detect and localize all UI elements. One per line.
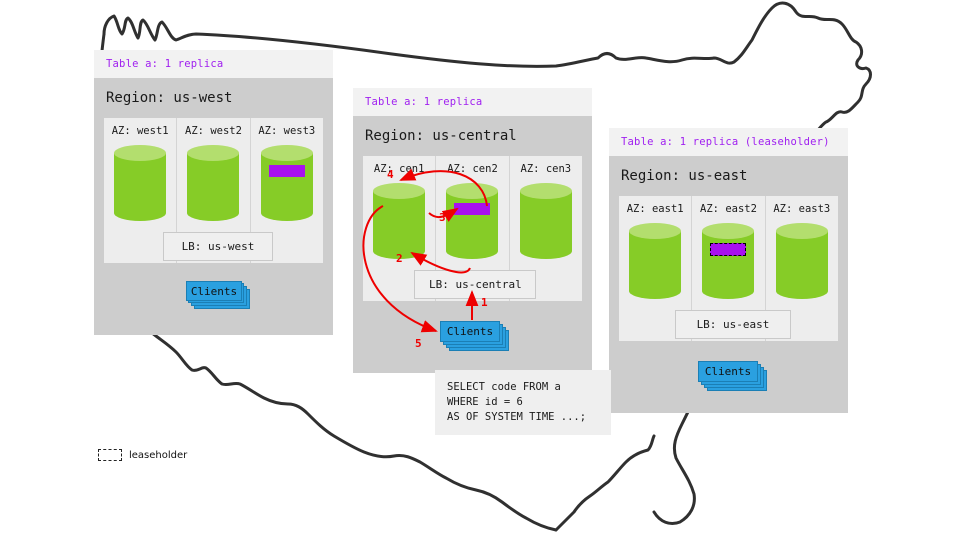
clients-us-east[interactable]: Clients [698, 361, 764, 387]
diagram-canvas: Table a: 1 replica Region: us-west AZ: w… [0, 0, 960, 540]
replica-cylinder-east3[interactable] [776, 223, 828, 299]
replica-block-west3[interactable] [269, 165, 305, 177]
clients-us-central[interactable]: Clients [440, 321, 506, 347]
replica-cylinder-cen2[interactable] [446, 183, 498, 259]
clients-us-west[interactable]: Clients [186, 281, 248, 307]
az-label-east3: AZ: east3 [773, 203, 830, 215]
step-number-4: 4 [387, 168, 394, 181]
step-number-3: 3 [439, 211, 446, 224]
replica-cylinder-west3[interactable] [261, 145, 313, 221]
replica-cylinder-cen1[interactable] [373, 183, 425, 259]
clients-label-us-west: Clients [186, 281, 242, 301]
region-title-us-central: Table a: 1 replica [353, 88, 592, 116]
load-balancer-us-west[interactable]: LB: us-west [163, 232, 273, 261]
az-label-west3: AZ: west3 [258, 125, 315, 137]
az-label-west2: AZ: west2 [185, 125, 242, 137]
legend-label: leaseholder [129, 450, 187, 461]
replica-cylinder-west2[interactable] [187, 145, 239, 221]
replica-cylinder-east1[interactable] [629, 223, 681, 299]
region-label-us-west: Region: us-west [104, 78, 323, 118]
sql-query-box: SELECT code FROM a WHERE id = 6 AS OF SY… [435, 370, 611, 435]
load-balancer-us-central[interactable]: LB: us-central [414, 270, 536, 299]
replica-block-east2-leaseholder[interactable] [710, 243, 746, 256]
az-label-east2: AZ: east2 [700, 203, 757, 215]
step-number-5: 5 [415, 337, 422, 350]
clients-label-us-central: Clients [440, 321, 500, 342]
legend: leaseholder [98, 449, 187, 461]
load-balancer-us-east[interactable]: LB: us-east [675, 310, 791, 339]
replica-cylinder-west1[interactable] [114, 145, 166, 221]
region-title-us-east: Table a: 1 replica (leaseholder) [609, 128, 848, 156]
region-label-us-central: Region: us-central [363, 116, 582, 156]
az-label-east1: AZ: east1 [627, 203, 684, 215]
replica-cylinder-cen3[interactable] [520, 183, 572, 259]
leaseholder-swatch-icon [98, 449, 122, 461]
region-title-us-west: Table a: 1 replica [94, 50, 333, 78]
step-number-1: 1 [481, 296, 488, 309]
replica-cylinder-east2[interactable] [702, 223, 754, 299]
clients-label-us-east: Clients [698, 361, 758, 382]
az-label-cen1: AZ: cen1 [374, 163, 425, 175]
step-number-2: 2 [396, 252, 403, 265]
az-label-cen3: AZ: cen3 [521, 163, 572, 175]
replica-block-cen2[interactable] [454, 203, 490, 215]
az-label-cen2: AZ: cen2 [447, 163, 498, 175]
az-label-west1: AZ: west1 [112, 125, 169, 137]
region-label-us-east: Region: us-east [619, 156, 838, 196]
